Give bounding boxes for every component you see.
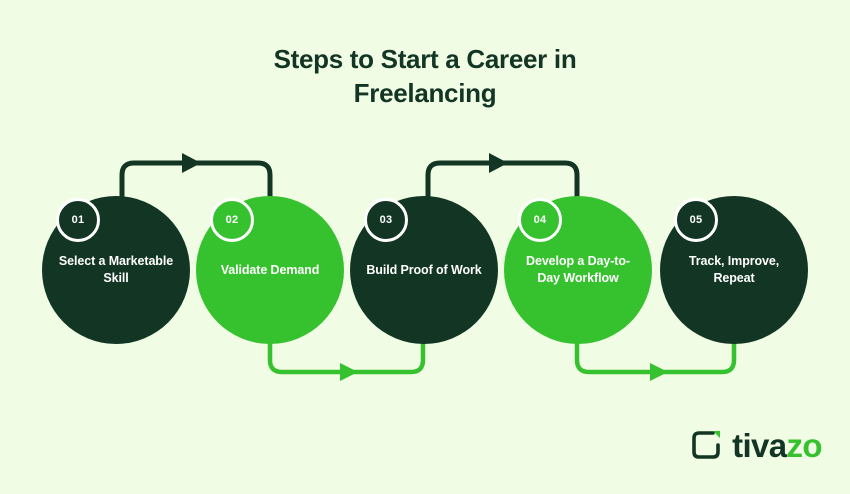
page-title: Steps to Start a Career in Freelancing [0,42,850,110]
page-title-line-2: Freelancing [0,76,850,110]
step-number-02: 02 [226,214,239,226]
bracket-square-icon [689,428,723,462]
step-label-05: Track, Improve, Repeat [675,253,793,287]
step-number-04: 04 [534,214,547,226]
brand-logo-text-accent: zo [787,427,822,464]
step-node-04[interactable]: Develop a Day-to- Day Workflow 04 [504,196,652,344]
step-badge-05[interactable]: 05 [674,198,718,242]
step-label-02: Validate Demand [207,262,334,279]
step-node-02[interactable]: Validate Demand 02 [196,196,344,344]
page-title-line-1: Steps to Start a Career in [0,42,850,76]
step-number-05: 05 [690,214,703,226]
step-label-03: Build Proof of Work [352,262,495,279]
step-label-04: Develop a Day-to- Day Workflow [512,253,644,287]
step-number-01: 01 [72,214,85,226]
brand-logo-text: tivazo [732,429,822,462]
infographic-canvas: Steps to Start a Career in Freelancing S… [0,0,850,494]
brand-logo-text-primary: tiva [732,427,786,464]
step-node-05[interactable]: Track, Improve, Repeat 05 [660,196,808,344]
step-label-01: Select a Marketable Skill [45,253,187,287]
step-badge-01[interactable]: 01 [56,198,100,242]
step-badge-04[interactable]: 04 [518,198,562,242]
step-number-03: 03 [380,214,393,226]
step-node-03[interactable]: Build Proof of Work 03 [350,196,498,344]
step-badge-02[interactable]: 02 [210,198,254,242]
brand-logo[interactable]: tivazo [689,428,822,462]
step-node-01[interactable]: Select a Marketable Skill 01 [42,196,190,344]
step-badge-03[interactable]: 03 [364,198,408,242]
